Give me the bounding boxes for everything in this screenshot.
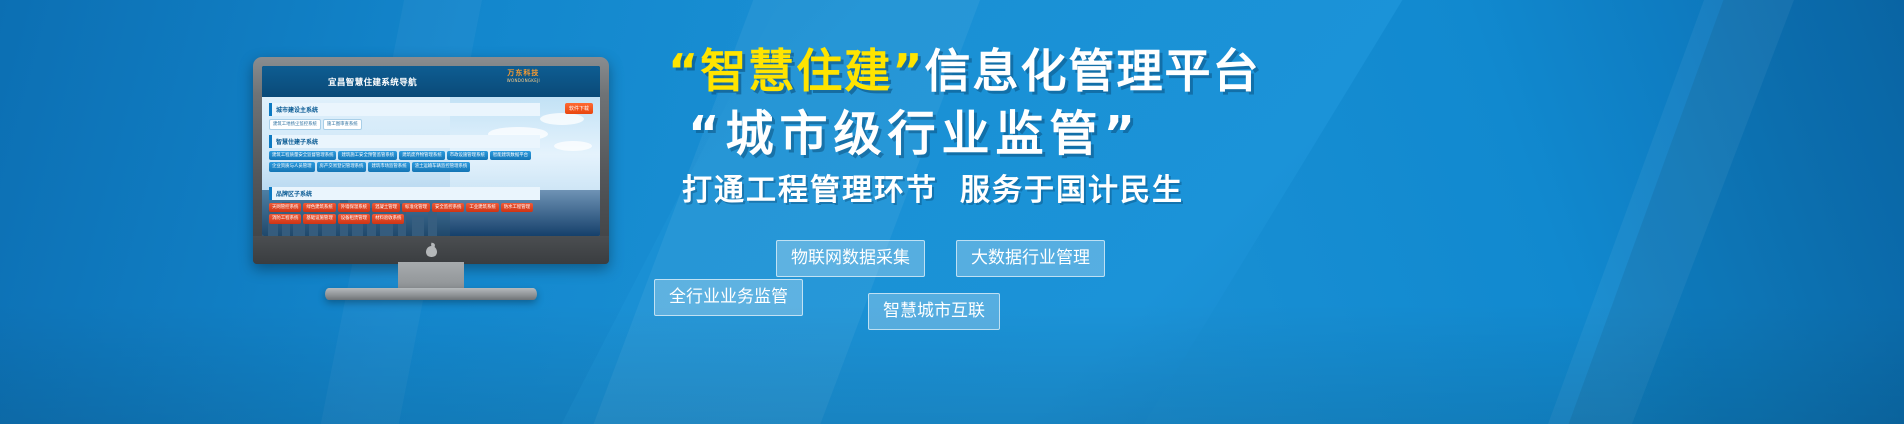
tag-iot-data-collection[interactable]: 物联网数据采集 [776,240,925,277]
system-chip[interactable]: 消防工程系统 [269,214,301,223]
section-smart-housing: 智慧住建子系统 建筑工程质量安全监督管理系统 建筑施工安全预警监管系统 建筑废弃… [269,135,540,172]
system-chip[interactable]: 企业资质与人员管理 [269,162,315,171]
section-items: 天网管控系统 绿色建筑系统 外墙保温系统 混凝土管理 标准化管理 安全监控系统 … [269,203,540,224]
imac-stand-neck [398,262,464,290]
section-items: 建筑工地扬尘监控系统 施工图审查系统 [269,119,540,130]
tag-bigdata-industry-management[interactable]: 大数据行业管理 [956,240,1105,277]
section-brand-zone: 品牌区子系统 天网管控系统 绿色建筑系统 外墙保温系统 混凝土管理 标准化管理 … [269,187,540,224]
section-heading: 品牌区子系统 [269,187,540,200]
system-chip[interactable]: 建筑市场监管系统 [368,162,409,171]
system-chip[interactable]: 绿色建筑系统 [303,203,335,212]
headline-quote-close: ” [892,44,924,98]
cloud-shape [540,113,584,125]
tag-all-industry-supervision[interactable]: 全行业业务监管 [654,279,803,316]
system-chip[interactable]: 建筑施工安全预警监管系统 [338,151,397,160]
system-chip[interactable]: 房产交易登记管理系统 [317,162,367,171]
brand-name-cn: 万东科技 [507,70,540,77]
brand-name-en: WONDONGKEJI [507,79,540,83]
cloud-shape [554,141,592,151]
headline-line-3: 打通工程管理环节服务于国计民生 [682,176,1184,206]
imac-body: 宜昌智慧住建系统导航 万东科技 WONDONGKEJI [253,57,609,264]
headline-rest: 信息化管理平台 [924,44,1260,98]
system-chip[interactable]: 智能建筑数据平台 [490,151,531,160]
imac-screen: 宜昌智慧住建系统导航 万东科技 WONDONGKEJI [262,66,600,236]
app-title: 宜昌智慧住建系统导航 [328,76,417,88]
app-header-bar: 宜昌智慧住建系统导航 万东科技 WONDONGKEJI [262,66,600,97]
section-heading: 城市建设主系统 [269,103,540,116]
section-city-construction: 城市建设主系统 建筑工地扬尘监控系统 施工图审查系统 [269,103,540,130]
slogan-left: 打通工程管理环节 [682,173,938,208]
system-chip[interactable]: 渣土运输车辆监控管理系统 [412,162,471,171]
system-chip[interactable]: 防水工程管理 [501,203,533,212]
system-chip[interactable]: 外墙保温系统 [338,203,370,212]
system-chip[interactable]: 标准化管理 [402,203,430,212]
app-content-area: 软件下载 城市建设主系统 建筑工地扬尘监控系统 施工图审查系统 智慧住建子系统 … [262,97,600,236]
system-chip[interactable]: 市政设施管理系统 [447,151,488,160]
promo-banner: 宜昌智慧住建系统导航 万东科技 WONDONGKEJI [0,0,1904,424]
system-chip[interactable]: 设备租赁管理 [338,214,370,223]
system-chip[interactable]: 材料验收系统 [372,214,404,223]
section-items: 建筑工程质量安全监督管理系统 建筑施工安全预警监管系统 建筑废弃物管理系统 市政… [269,151,540,172]
system-chip[interactable]: 安全监控系统 [432,203,464,212]
system-chip[interactable]: 建筑废弃物管理系统 [399,151,445,160]
software-download-button[interactable]: 软件下载 [565,103,593,114]
slogan-right: 服务于国计民生 [960,173,1184,208]
apple-logo-icon [425,243,438,258]
system-chip[interactable]: 建筑工地扬尘监控系统 [269,119,321,130]
system-chip[interactable]: 混凝土管理 [372,203,400,212]
system-chip[interactable]: 建筑工程质量安全监督管理系统 [269,151,336,160]
section-heading: 智慧住建子系统 [269,135,540,148]
system-chip[interactable]: 天网管控系统 [269,203,301,212]
system-chip[interactable]: 基础设施管理 [303,214,335,223]
imac-chin [253,236,609,264]
system-chip[interactable]: 施工图审查系统 [323,119,362,130]
imac-mockup: 宜昌智慧住建系统导航 万东科技 WONDONGKEJI [253,57,609,304]
system-chip[interactable]: 工业建筑系统 [466,203,498,212]
headline-highlight: 智慧住建 [700,44,892,98]
headline-line-2: “城市级行业监管” [688,110,1141,158]
app-brand-logo: 万东科技 WONDONGKEJI [507,70,540,83]
headline-block: “智慧住建”信息化管理平台 “城市级行业监管” 打通工程管理环节服务于国计民生 … [636,0,1904,424]
headline-quote-open: “ [668,44,700,98]
tag-smart-city-interconnect[interactable]: 智慧城市互联 [868,293,1000,330]
imac-stand-foot [325,288,537,300]
headline-line-1: “智慧住建”信息化管理平台 [668,48,1260,94]
